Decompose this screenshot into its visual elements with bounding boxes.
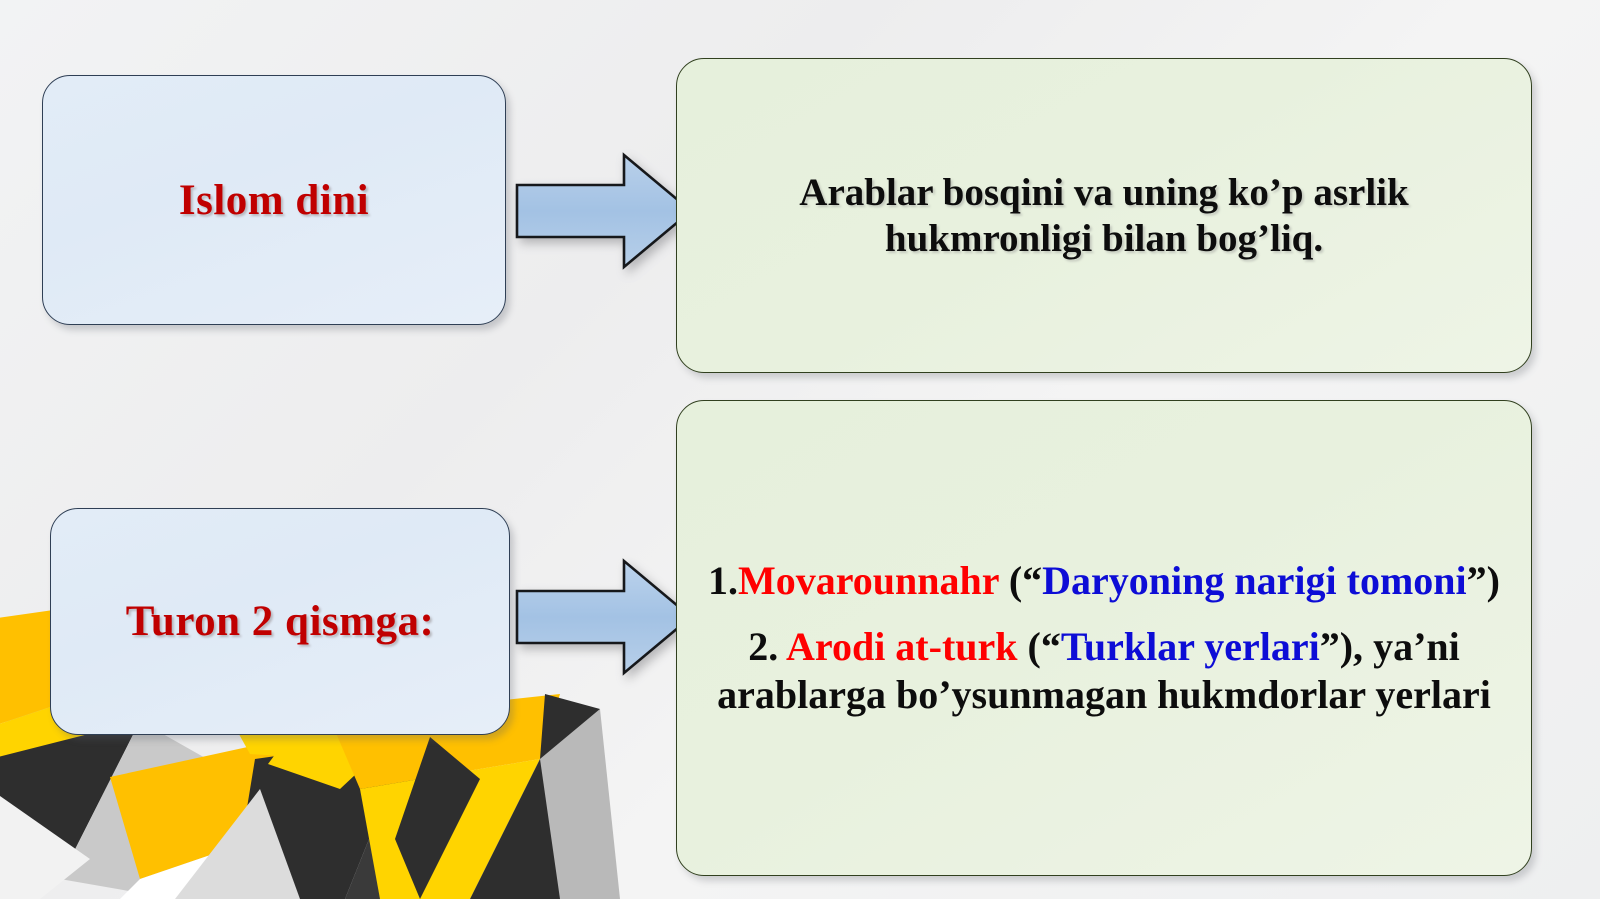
item-1-translation: Daryoning narigi tomoni — [1042, 558, 1466, 603]
item-1-close-quote: ”) — [1467, 558, 1500, 603]
label-turon-2-qismga: Turon 2 qismga: — [126, 597, 435, 646]
item-2-number: 2. — [748, 624, 786, 669]
list-item-arodi-at-turk: 2. Arodi at-turk (“Turklar yerlari”), ya… — [703, 623, 1505, 719]
item-2-close-quote: ”), — [1320, 624, 1373, 669]
slide-canvas: Islom dini Arablar bosqini va uning ko’p… — [0, 0, 1600, 899]
item-1-open-quote: (“ — [999, 558, 1042, 603]
right-arrow-icon-top — [514, 152, 694, 270]
item-1-number: 1. — [708, 558, 738, 603]
label-box-turon[interactable]: Turon 2 qismga: — [50, 508, 510, 735]
label-box-islom-dini[interactable]: Islom dini — [42, 75, 506, 325]
list-item-movarounnahr: 1.Movarounnahr (“Daryoning narigi tomoni… — [703, 557, 1505, 605]
item-2-open-quote: (“ — [1018, 624, 1061, 669]
content-box-turon-qismlari[interactable]: 1.Movarounnahr (“Daryoning narigi tomoni… — [676, 400, 1532, 876]
content-box-arablar[interactable]: Arablar bosqini va uning ko’p asrlik huk… — [676, 58, 1532, 373]
item-2-translation: Turklar yerlari — [1061, 624, 1320, 669]
label-islom-dini: Islom dini — [179, 176, 369, 225]
text-arablar-bosqini: Arablar bosqini va uning ko’p asrlik huk… — [677, 170, 1531, 261]
item-2-term: Arodi at-turk — [786, 624, 1017, 669]
item-1-term: Movarounnahr — [738, 558, 999, 603]
right-arrow-icon-bottom — [514, 558, 694, 676]
turon-parts-list: 1.Movarounnahr (“Daryoning narigi tomoni… — [677, 557, 1531, 719]
